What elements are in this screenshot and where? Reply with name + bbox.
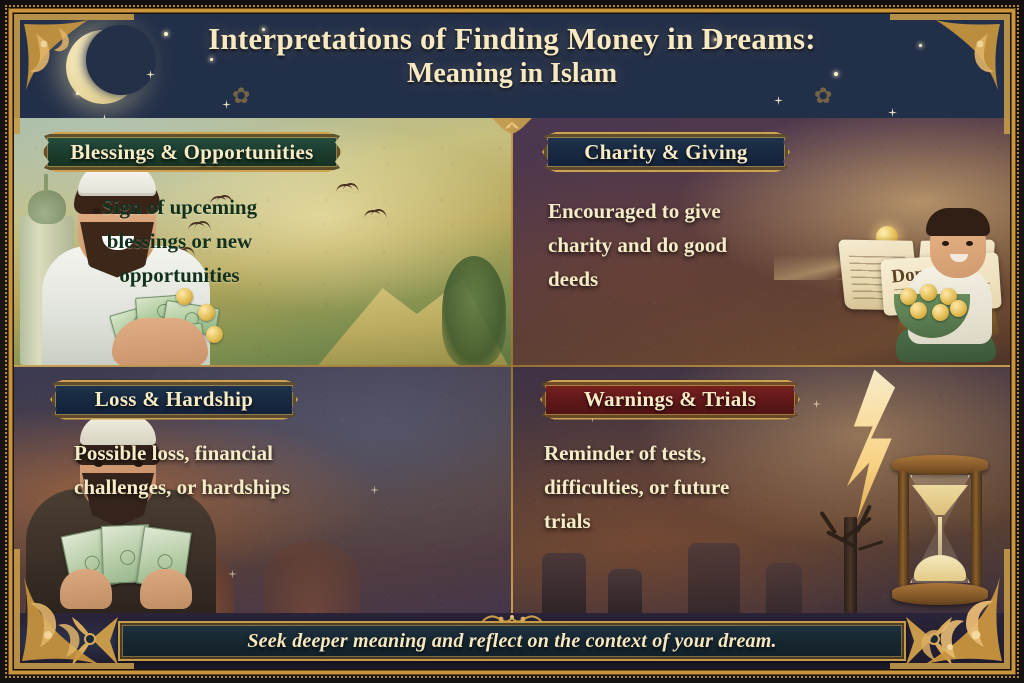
man-hand-left	[60, 569, 112, 609]
quadrant-banner-warnings-trials[interactable]: Warnings & Trials	[540, 380, 800, 420]
banner-label: Blessings & Opportunities	[70, 140, 313, 165]
gravestone-silhouette	[766, 563, 802, 613]
footer-top-ornament	[477, 613, 547, 623]
gravestone-silhouette	[542, 553, 586, 613]
quadrant-banner-loss-hardship[interactable]: Loss & Hardship	[50, 380, 298, 420]
coin	[932, 304, 949, 321]
star-sparkle	[370, 486, 379, 495]
quadrant-body-text-loss: Possible loss, financial challenges, or …	[74, 436, 304, 504]
coin	[198, 304, 215, 321]
quadrant-banner-charity-giving[interactable]: Charity & Giving	[542, 132, 790, 172]
quadrant-loss-hardship[interactable]: Loss & Hardship Possible loss, financial…	[14, 366, 512, 614]
tree	[442, 256, 506, 366]
star-sparkle	[774, 96, 783, 105]
title-line-1: Interpretations of Finding Money in Drea…	[14, 22, 1010, 57]
banner-label: Warnings & Trials	[584, 387, 756, 412]
poster-canvas: ✿ ✿ Interpretations of Finding Money in …	[14, 14, 1010, 669]
quadrant-body-text-blessings: Sign of upceming blessings or new opport…	[72, 190, 287, 292]
boy-eye	[966, 241, 973, 246]
gravestone-silhouette	[608, 569, 642, 613]
quadrant-body-text-warnings: Reminder of tests, difficulties, or futu…	[544, 436, 769, 538]
dead-tree	[798, 485, 902, 613]
hourglass-sand-upper	[912, 485, 968, 515]
hourglass-sand-lower	[914, 555, 966, 581]
hourglass-post	[898, 471, 909, 587]
quadrant-grid: Blessings & Opportunities Sign of upcemi…	[14, 118, 1010, 613]
gravestone-silhouette	[688, 543, 740, 613]
mosque-dome-silhouette	[264, 541, 360, 613]
boy-hair	[926, 208, 990, 236]
coin	[950, 300, 967, 317]
quadrant-warnings-trials[interactable]: Warnings & Trials Reminder of tests, dif…	[512, 366, 1010, 614]
star-sparkle	[888, 108, 897, 117]
footer-plaque: Seek deeper meaning and reflect on the c…	[118, 621, 906, 661]
banner-label: Loss & Hardship	[95, 387, 254, 412]
hourglass-bottom-cap	[892, 583, 988, 605]
banner-label: Charity & Giving	[584, 140, 747, 165]
quadrant-banner-blessings-opportunities[interactable]: Blessings & Opportunities	[42, 132, 342, 172]
bird	[364, 209, 381, 218]
man-hands	[112, 318, 208, 366]
bird	[336, 183, 353, 192]
coin	[910, 302, 927, 319]
boy-figure	[890, 212, 1002, 362]
coin	[206, 326, 223, 343]
poster-footer: Seek deeper meaning and reflect on the c…	[14, 613, 1010, 669]
coin	[920, 284, 937, 301]
poster-title: Interpretations of Finding Money in Drea…	[14, 22, 1010, 90]
quadrant-blessings-opportunities[interactable]: Blessings & Opportunities Sign of upcemi…	[14, 118, 512, 366]
poster-header: ✿ ✿ Interpretations of Finding Money in …	[14, 14, 1010, 118]
horizontal-divider	[14, 365, 1010, 367]
footer-right-endcap	[902, 615, 958, 667]
hourglass-icon	[888, 455, 992, 605]
star-sparkle	[222, 100, 231, 109]
infographic-poster: ✿ ✿ Interpretations of Finding Money in …	[0, 0, 1024, 683]
footer-text: Seek deeper meaning and reflect on the c…	[247, 630, 776, 653]
footer-left-endcap	[66, 615, 122, 667]
star-dot	[76, 92, 79, 95]
hourglass-post	[971, 471, 982, 587]
title-line-2: Meaning in Islam	[14, 57, 1010, 91]
tree-branch	[858, 540, 884, 551]
star-sparkle	[812, 400, 821, 409]
quadrant-body-text-charity: Encouraged to give charity and do good d…	[548, 194, 768, 296]
boy-eye	[942, 241, 949, 246]
man-hand-right	[140, 569, 192, 609]
quadrant-charity-giving[interactable]: Donatity	[512, 118, 1010, 366]
divider-ornament	[490, 117, 534, 135]
